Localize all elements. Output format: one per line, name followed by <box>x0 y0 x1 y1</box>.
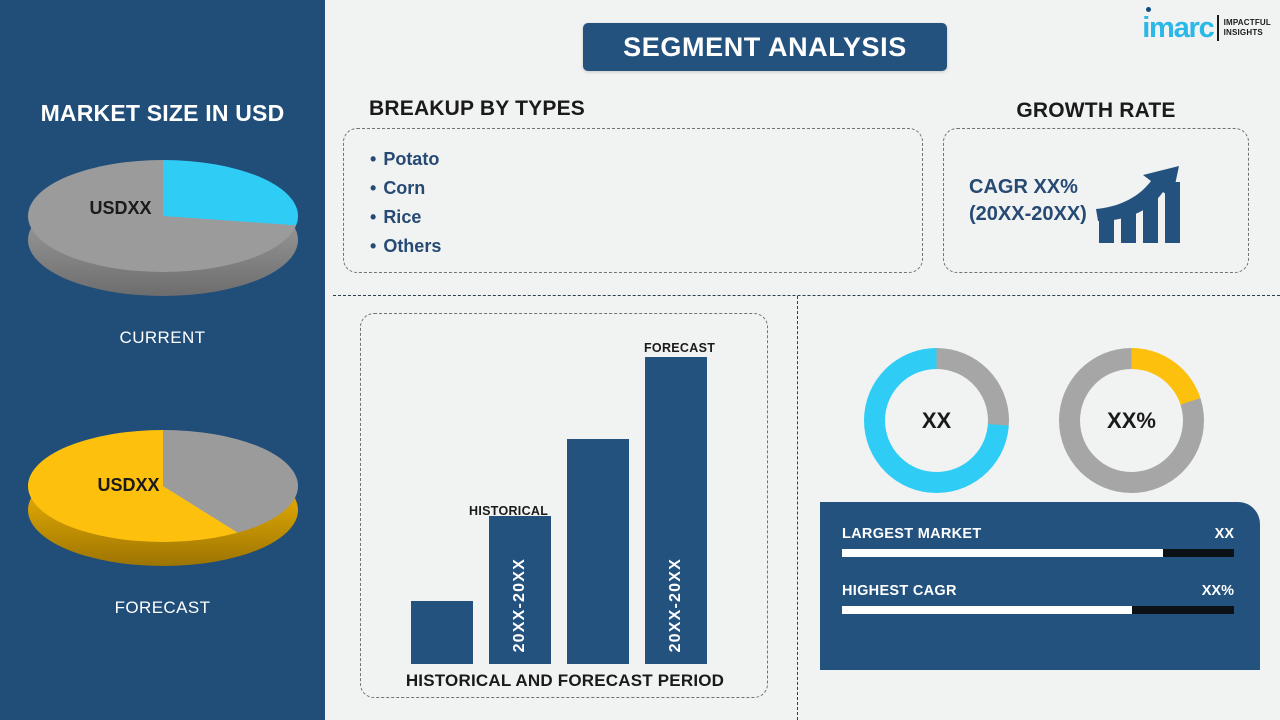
imarc-logo: imarc IMPACTFUL INSIGHTS <box>1142 10 1271 46</box>
bar-1 <box>411 601 473 664</box>
pie-current-stage: USDXX <box>28 160 298 310</box>
growth-arrow-chart-icon <box>1093 155 1185 252</box>
breakup-item-2: •Rice <box>370 203 922 232</box>
main-content: SEGMENT ANALYSIS imarc IMPACTFUL INSIGHT… <box>325 0 1280 720</box>
stats-panel: LARGEST MARKET XX HIGHEST CAGR XX% <box>820 502 1260 670</box>
donut-row: XX XX% <box>822 348 1277 498</box>
pie-current-top <box>28 160 298 272</box>
bar-4: 20XX-20XX <box>645 357 707 664</box>
logo-text: imarc <box>1142 12 1213 44</box>
donut-1-value: XX <box>922 408 951 434</box>
donut-2-value: XX% <box>1107 408 1156 434</box>
breakup-item-2-label: Rice <box>383 207 421 227</box>
breakup-item-1: •Corn <box>370 174 922 203</box>
donut-2-hole: XX% <box>1080 369 1183 472</box>
sidebar-title: MARKET SIZE IN USD <box>0 100 325 127</box>
stat-head-highest-cagr: HIGHEST CAGR XX% <box>842 583 1234 599</box>
pie-chart-forecast: USDXX FORECAST <box>0 430 325 618</box>
logo-tagline-line1: IMPACTFUL <box>1224 18 1271 28</box>
bar-chart-axis-label: HISTORICAL AND FORECAST PERIOD <box>361 671 769 691</box>
bar-chart-plot: 20XX-20XX HISTORICAL 20XX-20XX FORECAST … <box>361 314 769 699</box>
bar-2-label: 20XX-20XX <box>511 558 529 652</box>
breakup-section-title: BREAKUP BY TYPES <box>369 97 585 121</box>
pie-forecast-value: USDXX <box>98 475 160 496</box>
growth-section-title: GROWTH RATE <box>941 99 1251 123</box>
donut-chart-1: XX <box>864 348 1009 493</box>
pie-chart-current: USDXX CURRENT <box>0 160 325 348</box>
stat-track-highest-cagr <box>842 606 1234 614</box>
cagr-line2: (20XX-20XX) <box>969 201 1087 228</box>
logo-tagline: IMPACTFUL INSIGHTS <box>1224 18 1271 38</box>
cagr-line1: CAGR XX% <box>969 174 1087 201</box>
stat-label-highest-cagr: HIGHEST CAGR <box>842 583 957 599</box>
breakup-item-3-label: Others <box>383 236 441 256</box>
pie-current-value: USDXX <box>90 198 152 219</box>
breakup-card: •Potato •Corn •Rice •Others <box>343 128 923 273</box>
donut-chart-2: XX% <box>1059 348 1204 493</box>
sidebar: MARKET SIZE IN USD USDXX CURRENT USDXX F… <box>0 0 325 720</box>
logo-dot-icon <box>1146 7 1151 12</box>
divider-vertical <box>797 296 798 720</box>
bar-3 <box>567 439 629 664</box>
logo-wordmark: imarc <box>1142 14 1213 43</box>
bullet-icon: • <box>370 178 376 198</box>
stat-label-largest-market: LARGEST MARKET <box>842 526 982 542</box>
pie-forecast-stage: USDXX <box>28 430 298 580</box>
logo-divider-icon <box>1217 15 1219 41</box>
donut-1-hole: XX <box>885 369 988 472</box>
breakup-item-0-label: Potato <box>383 149 439 169</box>
breakup-item-1-label: Corn <box>383 178 425 198</box>
stat-value-largest-market: XX <box>1215 526 1234 542</box>
page-title: SEGMENT ANALYSIS <box>623 32 907 63</box>
bar-chart-card: 20XX-20XX HISTORICAL 20XX-20XX FORECAST … <box>360 313 768 698</box>
page-title-badge: SEGMENT ANALYSIS <box>583 23 947 71</box>
bar-2-caption: HISTORICAL <box>469 504 548 518</box>
bullet-icon: • <box>370 149 376 169</box>
pie-forecast-top <box>28 430 298 542</box>
bar-2: 20XX-20XX <box>489 516 551 664</box>
stat-fill-highest-cagr <box>842 606 1132 614</box>
bullet-icon: • <box>370 207 376 227</box>
bullet-icon: • <box>370 236 376 256</box>
growth-card: CAGR XX% (20XX-20XX) <box>943 128 1249 273</box>
stat-fill-largest-market <box>842 549 1163 557</box>
stat-value-highest-cagr: XX% <box>1202 583 1234 599</box>
stat-row-highest-cagr: HIGHEST CAGR XX% <box>842 583 1234 614</box>
breakup-item-3: •Others <box>370 232 922 261</box>
infographic-root: MARKET SIZE IN USD USDXX CURRENT USDXX F… <box>0 0 1280 720</box>
pie-current-caption: CURRENT <box>0 328 325 348</box>
bar-4-label: 20XX-20XX <box>667 558 685 652</box>
stat-track-largest-market <box>842 549 1234 557</box>
breakup-item-0: •Potato <box>370 145 922 174</box>
divider-horizontal <box>333 295 1280 296</box>
bar-4-caption: FORECAST <box>644 341 715 355</box>
logo-tagline-line2: INSIGHTS <box>1224 28 1271 38</box>
pie-forecast-caption: FORECAST <box>0 598 325 618</box>
stat-head-largest-market: LARGEST MARKET XX <box>842 526 1234 542</box>
cagr-text: CAGR XX% (20XX-20XX) <box>969 174 1087 228</box>
stat-row-largest-market: LARGEST MARKET XX <box>842 526 1234 557</box>
